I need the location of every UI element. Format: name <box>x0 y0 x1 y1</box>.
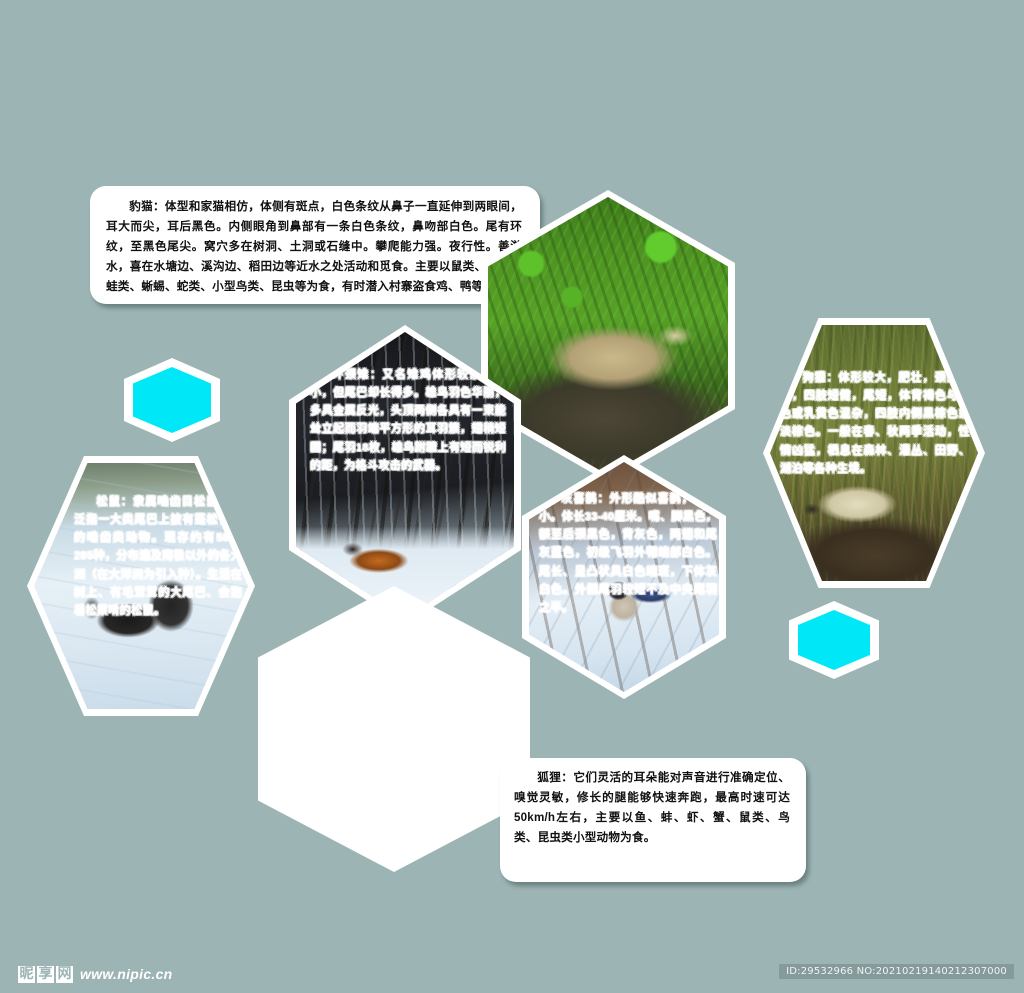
fox-photo <box>265 593 523 865</box>
plate-fox-text: 狐狸：它们灵活的耳朵能对声音进行准确定位、嗅觉灵敏，修长的腿能够快速奔跑，最高时… <box>514 768 790 848</box>
plate-leopard-cat: 豹猫：体型和家猫相仿，体侧有斑点，白色条纹从鼻子一直延伸到两眼间，耳大而尖，耳后… <box>90 186 540 304</box>
hex-squirrel-inner: 松鼠：隶属啮齿目松鼠科，泛指一大类尾巴上披有蓬松长毛的啮齿类动物。现存约有58属… <box>34 463 248 709</box>
plate-fox: 狐狸：它们灵活的耳朵能对声音进行准确定位、嗅觉灵敏，修长的腿能够快速奔跑，最高时… <box>500 758 806 882</box>
watermark-bar: 昵 享 网 www.nipic.cn ID:29532966 NO:202102… <box>0 955 1024 993</box>
hex-magpie[interactable]: 灰喜鹊：外形酷似喜鹊，但稍小。体长33-40厘米。嘴、脚黑色，额至后颈黑色，背灰… <box>522 455 726 699</box>
hex-fox-inner <box>265 593 523 865</box>
accent-hexagon-right-core <box>798 610 870 670</box>
leopard-cat-photo <box>488 197 728 475</box>
image-id-badge: ID:29532966 NO:20210219140212307000 <box>779 964 1014 979</box>
hex-hog-badger-inner: 狗獾：体形较大，肥壮，颈部粗短，四肢短健，尾短，体背褐色与白色或乳黄色混杂，四肢… <box>770 325 978 581</box>
accent-hexagon-right <box>789 601 879 679</box>
logo-char-3: 网 <box>56 966 73 983</box>
poster-board: 豹猫：体型和家猫相仿，体侧有斑点，白色条纹从鼻子一直延伸到两眼间，耳大而尖，耳后… <box>0 0 1024 955</box>
site-url: www.nipic.cn <box>80 966 173 982</box>
site-logo-mark: 昵 享 网 <box>18 966 73 983</box>
squirrel-photo <box>34 463 248 709</box>
hex-squirrel[interactable]: 松鼠：隶属啮齿目松鼠科，泛指一大类尾巴上披有蓬松长毛的啮齿类动物。现存约有58属… <box>27 456 255 716</box>
plate-leopard-cat-text: 豹猫：体型和家猫相仿，体侧有斑点，白色条纹从鼻子一直延伸到两眼间，耳大而尖，耳后… <box>106 197 522 297</box>
accent-hexagon-left-core <box>133 367 211 433</box>
site-logo: 昵 享 网 www.nipic.cn <box>18 966 173 983</box>
hex-fox[interactable] <box>258 586 530 872</box>
hog-badger-photo <box>770 325 978 581</box>
hex-pheasant-inner: 环颈雉：又名雉鸡体形较家鸡略小，但尾巴却长得多。雄鸟羽色华丽，多具金属反光，头顶… <box>296 332 514 618</box>
hex-leopard-cat-inner <box>488 197 728 475</box>
hex-hog-badger[interactable]: 狗獾：体形较大，肥壮，颈部粗短，四肢短健，尾短，体背褐色与白色或乳黄色混杂，四肢… <box>763 318 985 588</box>
accent-hexagon-left <box>124 358 220 442</box>
magpie-photo <box>529 462 719 692</box>
logo-char-2: 享 <box>37 966 54 983</box>
logo-char-1: 昵 <box>18 966 35 983</box>
pheasant-photo <box>296 332 514 618</box>
hex-magpie-inner: 灰喜鹊：外形酷似喜鹊，但稍小。体长33-40厘米。嘴、脚黑色，额至后颈黑色，背灰… <box>529 462 719 692</box>
